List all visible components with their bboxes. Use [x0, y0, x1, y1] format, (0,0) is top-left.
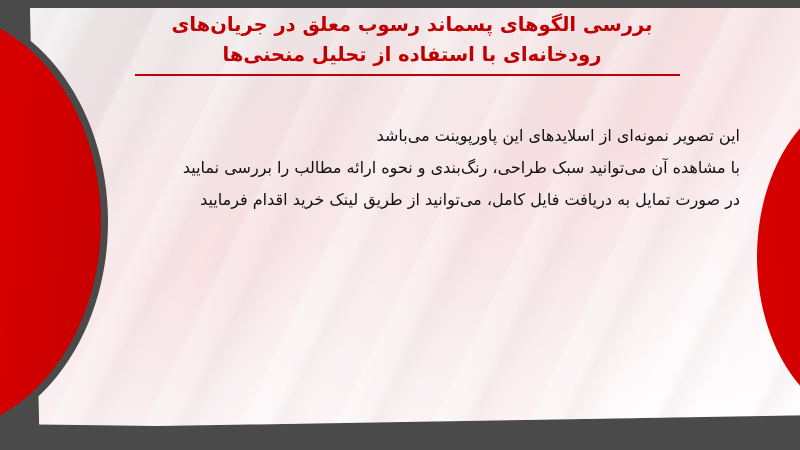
- body-line-1: این تصویر نمونه‌ای از اسلایدهای این پاور…: [80, 120, 740, 152]
- body-line-3: در صورت تمایل به دریافت فایل کامل، می‌تو…: [80, 184, 740, 216]
- title-underline-rule: [135, 74, 680, 76]
- slide-content-panel: [30, 8, 800, 428]
- slide-title-line-2: رودخانه‌ای با استفاده از تحلیل منحنی‌ها: [62, 40, 762, 70]
- presentation-slide: بررسی الگوهای پسماند رسوب معلق در جریان‌…: [0, 0, 800, 450]
- body-line-2: با مشاهده آن می‌توانید سبک طراحی، رنگ‌بن…: [80, 152, 740, 184]
- slide-title-line-1: بررسی الگوهای پسماند رسوب معلق در جریان‌…: [62, 10, 762, 40]
- slide-body-text: این تصویر نمونه‌ای از اسلایدهای این پاور…: [80, 120, 740, 216]
- slide-title: بررسی الگوهای پسماند رسوب معلق در جریان‌…: [62, 10, 762, 70]
